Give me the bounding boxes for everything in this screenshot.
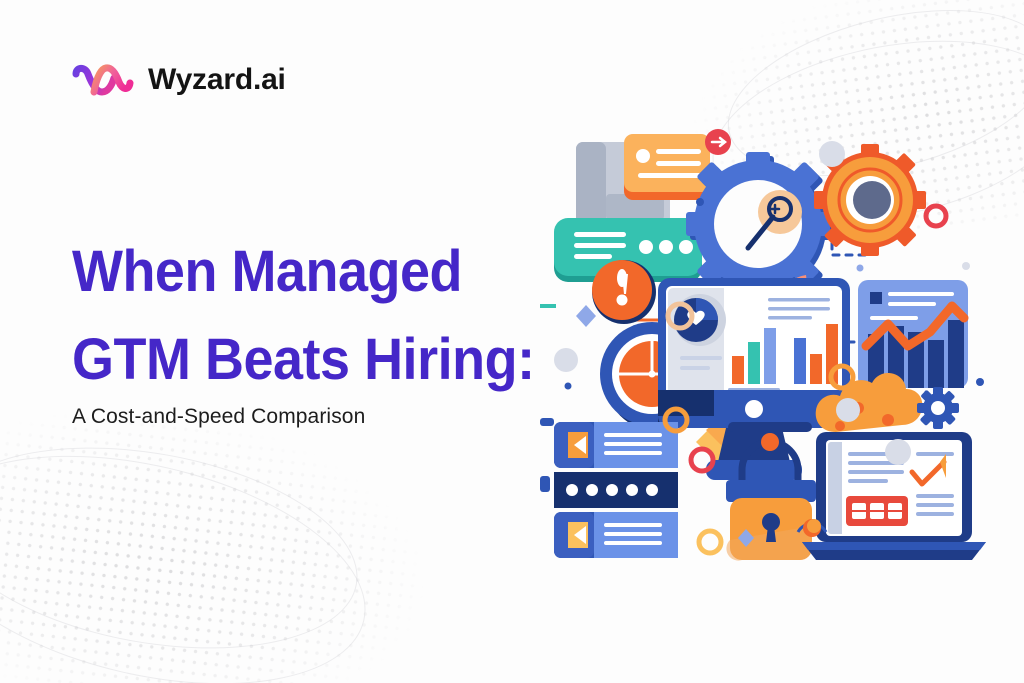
hero-illustration-svg — [540, 120, 1014, 570]
brand-logo[interactable]: Wyzard.ai — [72, 58, 286, 102]
page-subtitle: A Cost-and-Speed Comparison — [72, 405, 365, 429]
wyzard-wave-logo-icon — [72, 58, 136, 102]
page-title: When Managed GTM Beats Hiring: — [72, 243, 502, 389]
hero-illustration — [540, 120, 1014, 570]
orange-alert-circle — [592, 260, 656, 324]
brand-name: Wyzard.ai — [148, 63, 286, 97]
server-rack — [554, 422, 678, 558]
small-blue-gear — [917, 387, 959, 429]
line-chart-card — [858, 280, 968, 388]
halftone-wave-line — [0, 417, 388, 683]
blue-gear-search — [686, 152, 834, 300]
banner-canvas: Wyzard.ai When Managed GTM Beats Hiring:… — [0, 0, 1024, 683]
headline-line-2: GTM Beats Hiring: — [72, 331, 472, 389]
headline-line-1: When Managed — [72, 243, 472, 301]
